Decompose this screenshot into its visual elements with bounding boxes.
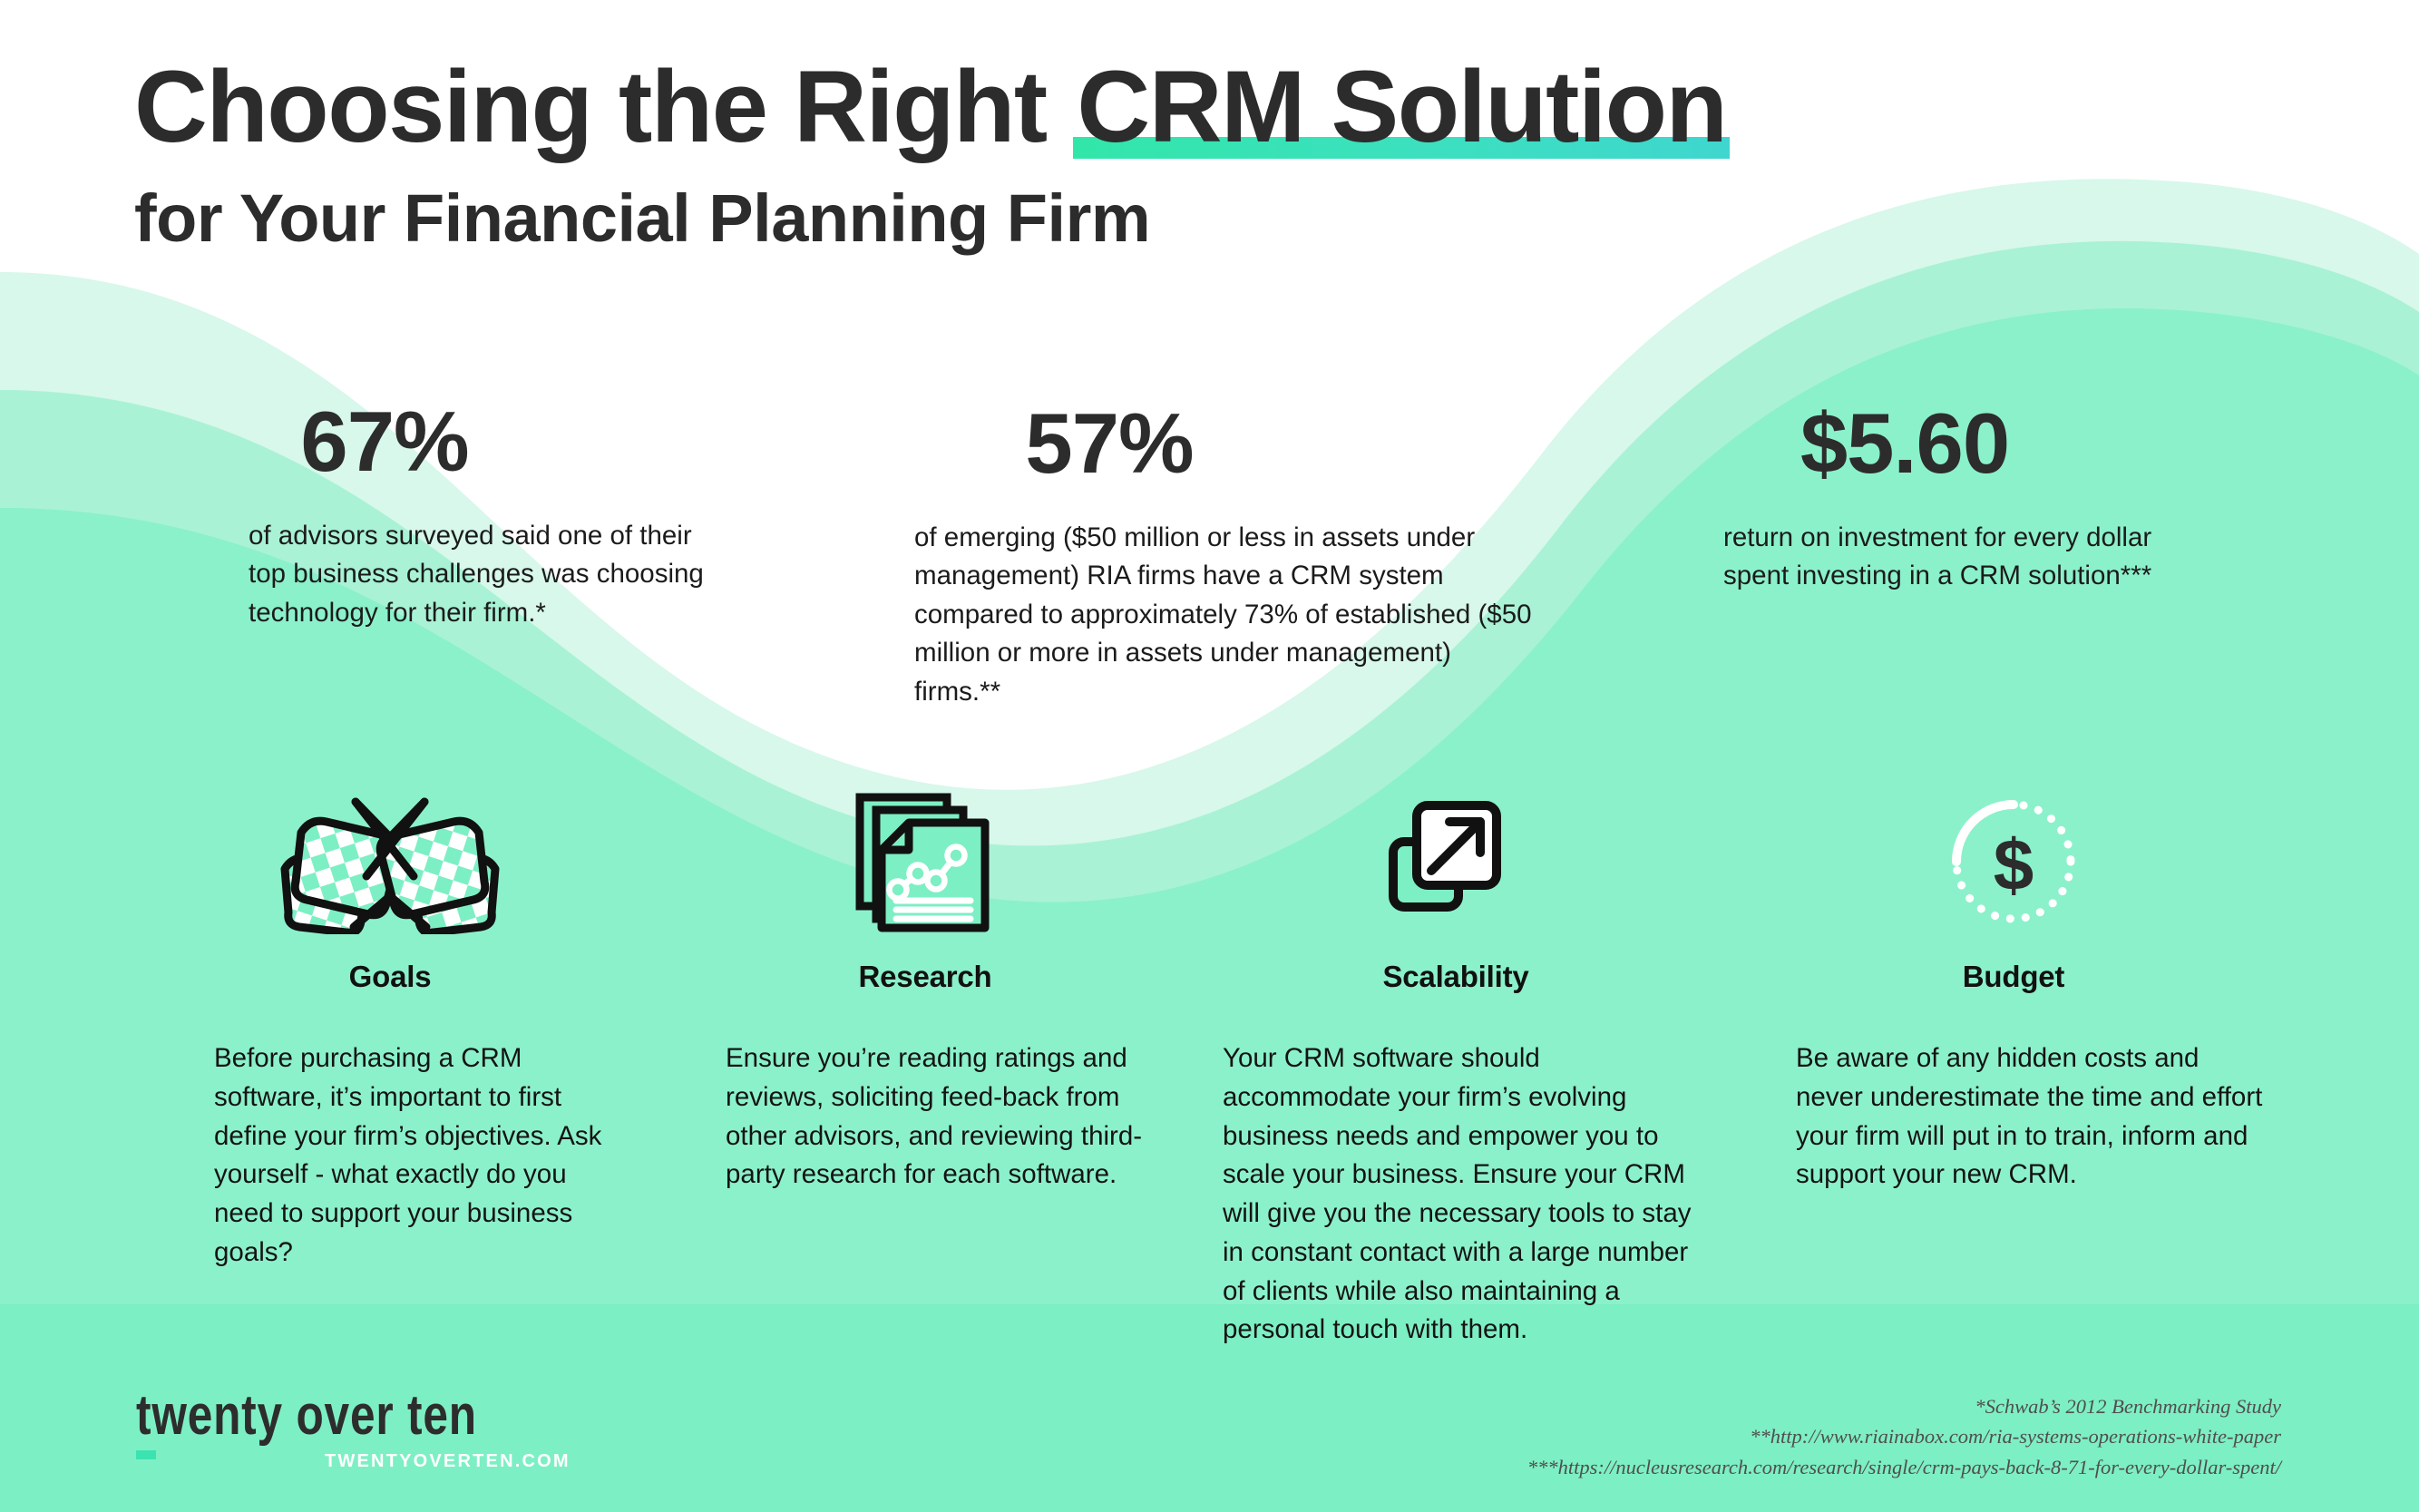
stat-card-advisors: 67% of advisors surveyed said one of the… <box>243 399 751 632</box>
stats-row: 67% of advisors surveyed said one of the… <box>0 399 2419 726</box>
page-title-plain: Choosing the Right <box>134 50 1073 163</box>
brand-logo-dash <box>136 1450 156 1459</box>
page-title: Choosing the Right CRM Solution <box>134 53 1730 162</box>
pillar-body: Ensure you’re reading ratings and review… <box>689 1039 1161 1195</box>
pillar-title: Scalability <box>1197 960 1714 994</box>
pillar-title: Goals <box>154 960 626 994</box>
footnote-2: **http://www.riainabox.com/ria-systems-o… <box>1527 1421 2281 1451</box>
pillar-body: Be aware of any hidden costs and never u… <box>1760 1039 2268 1195</box>
brand-website-url: TWENTYOVERTEN.COM <box>325 1451 571 1472</box>
stat-description: of emerging ($50 million or less in asse… <box>914 519 1540 711</box>
stat-number: $5.60 <box>1723 401 2086 486</box>
pillar-goals: Goals Before purchasing a CRM software, … <box>154 780 626 1273</box>
stacked-documents-chart-icon <box>689 780 1161 943</box>
pillar-body: Before purchasing a CRM software, it’s i… <box>154 1039 626 1273</box>
pillar-scalability: Scalability Your CRM software should acc… <box>1197 780 1714 1350</box>
infographic-root: Choosing the Right CRM Solution for Your… <box>0 0 2419 1512</box>
header: Choosing the Right CRM Solution for Your… <box>134 53 1730 259</box>
stat-number: 57% <box>914 401 1304 486</box>
pillar-title: Budget <box>1760 960 2268 994</box>
page-subtitle: for Your Financial Planning Firm <box>134 179 1730 259</box>
stat-card-emerging-ria: 57% of emerging ($50 million or less in … <box>914 401 1549 711</box>
footnote-3: ***https://nucleusresearch.com/research/… <box>1527 1452 2281 1482</box>
brand-logo-text: twenty over ten <box>136 1388 477 1444</box>
page-title-highlight: CRM Solution <box>1073 53 1730 162</box>
stat-number: 67% <box>249 399 521 484</box>
footnote-1: *Schwab’s 2012 Benchmarking Study <box>1527 1391 2281 1421</box>
svg-text:$: $ <box>1994 824 2034 905</box>
pillar-budget: $ Budget Be aware of any hidden costs an… <box>1760 780 2268 1195</box>
footnotes: *Schwab’s 2012 Benchmarking Study **http… <box>1527 1391 2281 1482</box>
brand-logo[interactable]: twenty over ten TWENTYOVERTEN.COM <box>136 1388 562 1459</box>
checkered-flags-icon <box>154 780 626 943</box>
stat-description: of advisors surveyed said one of their t… <box>249 517 729 632</box>
pillar-research: Research Ensure you’re reading ratings a… <box>689 780 1161 1195</box>
expand-arrow-squares-icon <box>1197 780 1714 943</box>
stat-description: return on investment for every dollar sp… <box>1723 519 2195 596</box>
dollar-circle-icon: $ <box>1760 780 2268 943</box>
pillar-body: Your CRM software should accommodate you… <box>1197 1039 1714 1350</box>
page-title-highlight-text: CRM Solution <box>1077 50 1726 163</box>
pillar-title: Research <box>689 960 1161 994</box>
stat-card-roi: $5.60 return on investment for every dol… <box>1723 401 2286 596</box>
